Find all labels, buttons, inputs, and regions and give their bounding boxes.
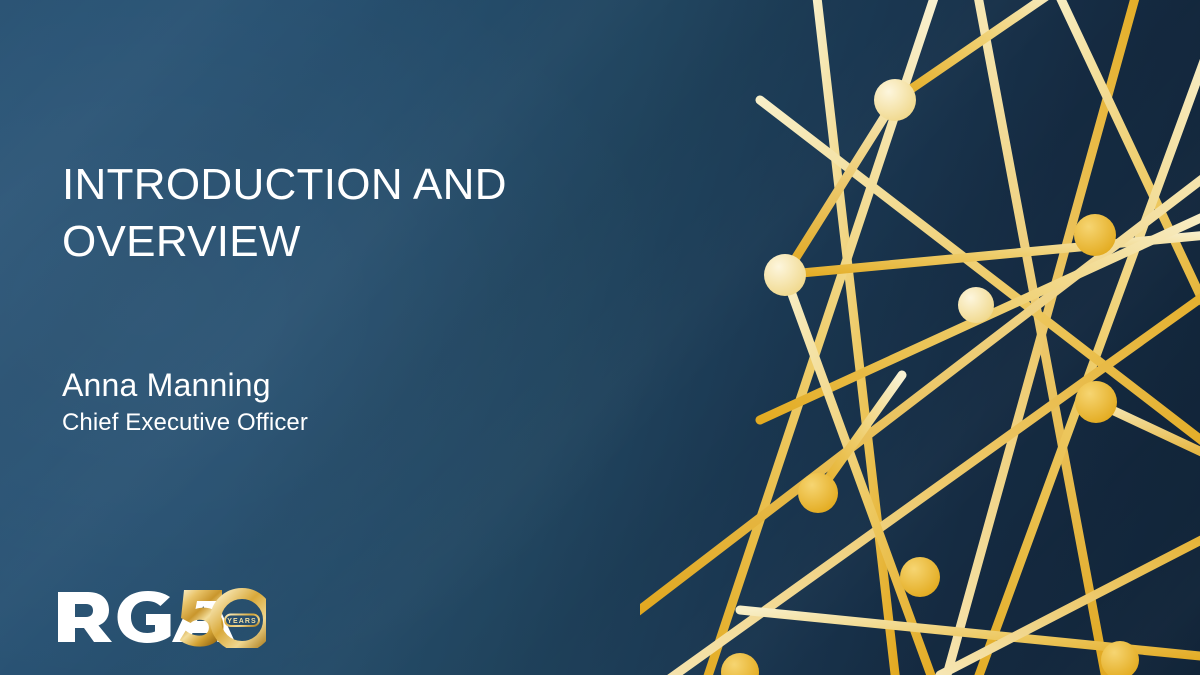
network-graphic [640,0,1200,675]
speaker-block: Anna Manning Chief Executive Officer [62,366,662,438]
presentation-slide: INTRODUCTION AND OVERVIEW Anna Manning C… [0,0,1200,675]
speaker-name: Anna Manning [62,366,662,405]
anniversary-label: YEARS [227,618,257,625]
speaker-role: Chief Executive Officer [62,407,662,438]
slide-title: INTRODUCTION AND OVERVIEW [62,157,622,270]
rga-logo: YEARS [56,585,266,647]
network-nodes [721,79,1139,675]
